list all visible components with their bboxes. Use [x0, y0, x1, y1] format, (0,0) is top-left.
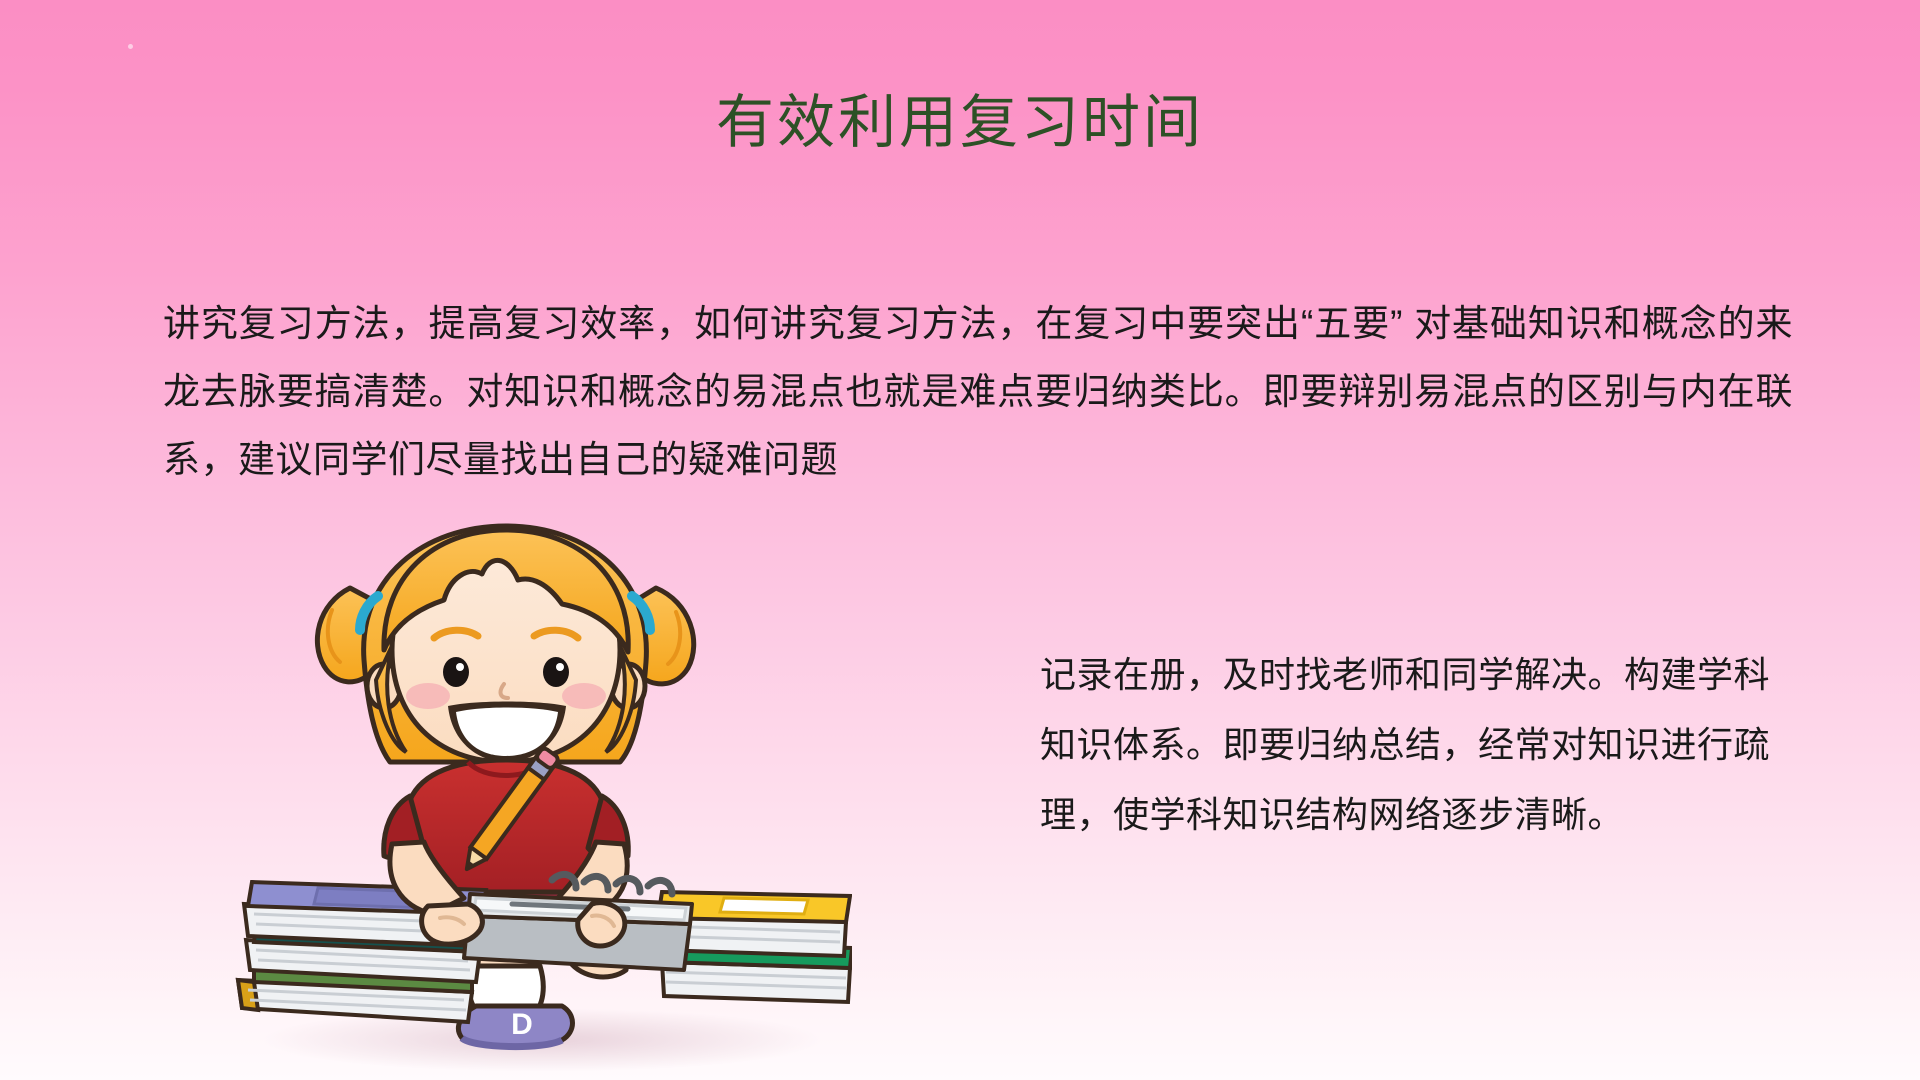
shoe-letter: D [511, 1008, 533, 1041]
eye-right-highlight [556, 663, 564, 671]
hand-left [422, 904, 483, 944]
side-paragraph: 记录在册，及时找老师和同学解决。构建学科知识体系。即要归纳总结，经常对知识进行疏… [1040, 640, 1770, 850]
blush-right [562, 683, 606, 709]
blush-left [406, 683, 450, 709]
page-title: 有效利用复习时间 [0, 88, 1920, 158]
eye-right [543, 657, 569, 687]
background-speck [128, 44, 133, 49]
hand-right [578, 903, 625, 946]
eye-left [443, 657, 469, 687]
eye-left-highlight [456, 663, 464, 671]
slide-canvas: 有效利用复习时间 讲究复习方法，提高复习效率，如何讲究复习方法，在复习中要突出“… [0, 0, 1920, 1080]
body-paragraph: 讲究复习方法，提高复习效率，如何讲究复习方法，在复习中要突出“五要” 对基础知识… [163, 290, 1793, 494]
girl-studying-illustration: D [232, 500, 852, 1080]
